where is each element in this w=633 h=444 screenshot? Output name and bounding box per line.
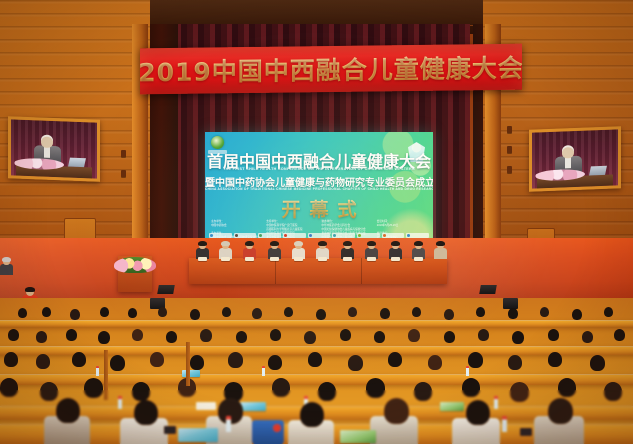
audience-head [18, 308, 27, 318]
water-bottle [494, 396, 498, 409]
speaker-body [0, 264, 13, 275]
ceiling-panel [128, 0, 503, 26]
audience-head [478, 329, 489, 341]
audience-head [388, 352, 402, 367]
panelist-hair [414, 241, 423, 246]
wall-fixture-icon [507, 166, 512, 173]
audience-head [412, 307, 421, 317]
audience-head [468, 352, 483, 368]
audience-head [0, 378, 18, 397]
audience-head [284, 307, 293, 317]
panelist-hair [343, 241, 352, 246]
audience-head [318, 382, 336, 401]
wall-fixture-icon [507, 146, 512, 153]
audience-head [444, 309, 454, 320]
panelist [434, 242, 447, 258]
audience-head [348, 307, 357, 317]
audience-head [512, 331, 524, 344]
screen-speaker-head [562, 147, 574, 158]
panelist [243, 242, 256, 258]
screen-speaker-shirt [565, 157, 571, 168]
audience-head [340, 329, 351, 341]
stage-monitor-wedge [479, 285, 497, 294]
panelist-hair [318, 241, 327, 246]
audience-head [222, 307, 231, 317]
audience-head [548, 398, 573, 424]
audience-head [36, 331, 47, 343]
audience-head [308, 352, 322, 367]
audience-head [252, 308, 262, 319]
audience-head [200, 329, 212, 342]
audience-head [70, 309, 80, 320]
nameplate [294, 257, 303, 261]
audience-head [132, 329, 143, 341]
water-bottle [226, 416, 231, 432]
audience-head [40, 382, 58, 401]
audience-head [572, 309, 582, 320]
panelist-hair [245, 241, 254, 246]
water-bottle [466, 366, 469, 376]
banner-title: 2019中国中西融合儿童健康大会 [140, 49, 522, 90]
audience-head [110, 355, 125, 371]
nameplate [198, 257, 207, 261]
audience-seating [0, 298, 633, 444]
panelist [292, 242, 305, 258]
panelist-hair [294, 241, 303, 246]
audience-head [100, 307, 109, 317]
panelist-hair [436, 241, 445, 246]
audience-head [270, 329, 281, 341]
audience-head [590, 355, 605, 371]
audience-head [408, 329, 420, 342]
mobile-phone [164, 426, 176, 434]
audience-head [548, 352, 562, 367]
audience-head [366, 378, 385, 398]
nameplate [414, 257, 423, 261]
nameplate [221, 257, 230, 261]
panelist-hair [221, 241, 230, 246]
podium-floral-arrangement [114, 257, 156, 273]
conference-booklet [178, 428, 218, 442]
desk-row [0, 320, 633, 327]
wall-fixture-icon [121, 150, 126, 157]
water-bottle [96, 366, 99, 376]
aisle-rail [104, 350, 108, 400]
panelist-hair [367, 241, 376, 246]
audience-head [466, 400, 490, 425]
panelist-body [434, 248, 447, 259]
audience-head [414, 382, 432, 401]
nameplate [343, 257, 352, 261]
audience-head [558, 378, 576, 397]
screen-laptop [68, 157, 86, 167]
speaker-hair [2, 257, 11, 262]
screen-speaker-shirt [44, 146, 50, 157]
audience-head [508, 308, 518, 319]
audience-head [272, 378, 290, 397]
audience-head [384, 398, 409, 424]
mobile-phone [520, 428, 532, 436]
audience-head [56, 398, 80, 423]
audience-head [348, 355, 363, 371]
audience-head [604, 382, 622, 401]
conference-booklet [340, 430, 376, 443]
audience-head [374, 331, 385, 343]
audience-head [228, 352, 243, 368]
water-bottle [502, 416, 507, 432]
audience-head [98, 331, 110, 344]
conference-hall-photo: 2019中国中西融合儿童健康大会 首届中国中西融合儿童健康大会 THE FIRS… [0, 0, 633, 444]
stage-monitor-wedge [157, 285, 175, 294]
audience-head [190, 355, 204, 370]
tote-bag [252, 420, 284, 444]
audience-head [444, 331, 455, 343]
right-projection-screen [529, 126, 621, 192]
panelist [196, 242, 209, 258]
panelist-hair [198, 241, 207, 246]
audience-head [158, 307, 167, 317]
left-projection-screen [8, 116, 100, 182]
wall-fixture-icon [507, 126, 512, 133]
panelist [412, 242, 425, 258]
water-bottle [118, 396, 122, 409]
audience-head [8, 329, 19, 341]
audience-head [66, 329, 77, 341]
audience-head [582, 331, 593, 343]
audience-head [428, 355, 442, 370]
panelist [316, 242, 329, 258]
staff-hair [25, 287, 35, 292]
panelist [219, 242, 232, 258]
panelist [389, 242, 402, 258]
nameplate [245, 257, 254, 261]
audience-head [4, 352, 18, 367]
nameplate [367, 257, 376, 261]
audience-head [380, 308, 390, 319]
audience-head [316, 309, 326, 320]
panelist [365, 242, 378, 258]
led-conference-subtitle-english: CHINA ASSOCIATION OF TRADITIONAL CHINESE… [205, 187, 433, 191]
screen-speaker-head [41, 136, 53, 147]
aisle-rail [186, 342, 190, 386]
audience-head [614, 329, 625, 341]
audience-head [508, 355, 522, 370]
conference-booklet [182, 370, 200, 377]
audience-head [236, 331, 247, 343]
audience-head [42, 307, 51, 317]
audience-head [510, 382, 529, 402]
table-seam [361, 258, 362, 284]
conference-booklet [440, 402, 464, 411]
nameplate [318, 257, 327, 261]
audience-head [462, 378, 480, 397]
screen-laptop [589, 166, 607, 176]
panelist [341, 242, 354, 258]
audience-head [604, 307, 613, 317]
led-ceremony-label: 开幕式 [205, 195, 433, 222]
audience-head [150, 352, 164, 367]
audience-head [268, 355, 282, 370]
audience-head [36, 354, 50, 369]
panelist [268, 242, 281, 258]
audience-head [540, 307, 549, 317]
audience-head [166, 331, 177, 343]
audience-head [84, 378, 103, 398]
audience-head [132, 382, 150, 401]
nameplate [391, 257, 400, 261]
panelist-hair [270, 241, 279, 246]
nameplate [270, 257, 279, 261]
wall-fixture-icon [121, 170, 126, 177]
main-led-screen: 首届中国中西融合儿童健康大会 THE FIRST CHILD HEALTH CO… [205, 132, 433, 252]
panel-table [189, 258, 447, 284]
table-seam [275, 258, 276, 284]
conference-booklet [240, 402, 266, 411]
audience-head [190, 309, 200, 320]
audience-head [134, 400, 158, 425]
led-conference-title-english: THE FIRST CHILD HEALTH CONFERENCE ON THE… [205, 167, 433, 171]
audience-head [548, 329, 559, 341]
handout-papers [196, 402, 216, 410]
panelist-hair [391, 241, 400, 246]
water-bottle [262, 366, 265, 376]
audience-head [72, 352, 86, 367]
audience-head [476, 307, 485, 317]
audience-head [128, 308, 137, 318]
audience-head [300, 402, 324, 427]
main-red-banner: 2019中国中西融合儿童健康大会 [140, 44, 522, 95]
audience-head [304, 331, 316, 344]
